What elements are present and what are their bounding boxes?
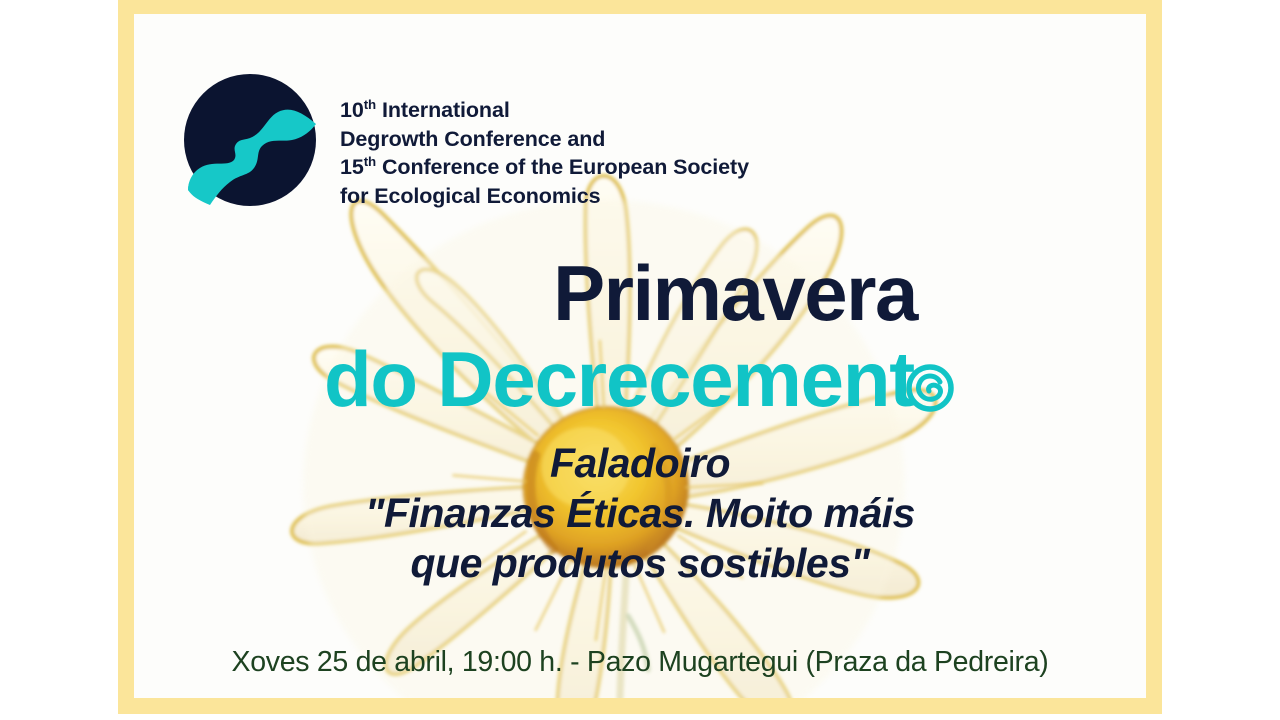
spiral-snail-icon	[902, 359, 958, 415]
talk-title-block: Faladoiro "Finanzas Éticas. Moito máis q…	[134, 438, 1146, 588]
conference-line-3-ordinal: th	[364, 154, 376, 169]
conference-line-4: for Ecological Economics	[340, 182, 749, 211]
talk-type-label: Faladoiro	[134, 438, 1146, 488]
event-details: Xoves 25 de abril, 19:00 h. - Pazo Mugar…	[134, 644, 1146, 680]
conference-line-1: 10th International	[340, 96, 749, 125]
conference-line-2: Degrowth Conference and	[340, 125, 749, 154]
conference-line-1-text: International	[376, 98, 510, 122]
poster-frame: 10th International Degrowth Conference a…	[118, 0, 1162, 714]
degrowth-conference-logo	[182, 72, 318, 208]
conference-line-3-text: Conference of the European Society	[376, 155, 749, 179]
title-line-decremento-text: do Decrecement	[324, 335, 914, 423]
poster-canvas: 10th International Degrowth Conference a…	[0, 0, 1280, 720]
title-line-decremento: do Decrecement	[134, 336, 1146, 422]
talk-title-line-1: "Finanzas Éticas. Moito máis	[134, 488, 1146, 538]
conference-line-1-number: 10	[340, 98, 364, 122]
poster-title: Primavera do Decrecement	[134, 250, 1146, 422]
conference-line-3-number: 15	[340, 155, 364, 179]
talk-title-line-2: que produtos sostibles"	[134, 538, 1146, 588]
conference-line-1-ordinal: th	[364, 97, 376, 112]
title-line-primavera: Primavera	[134, 250, 1146, 336]
conference-header: 10th International Degrowth Conference a…	[182, 72, 749, 210]
conference-line-3: 15th Conference of the European Society	[340, 153, 749, 182]
conference-name: 10th International Degrowth Conference a…	[340, 96, 749, 210]
